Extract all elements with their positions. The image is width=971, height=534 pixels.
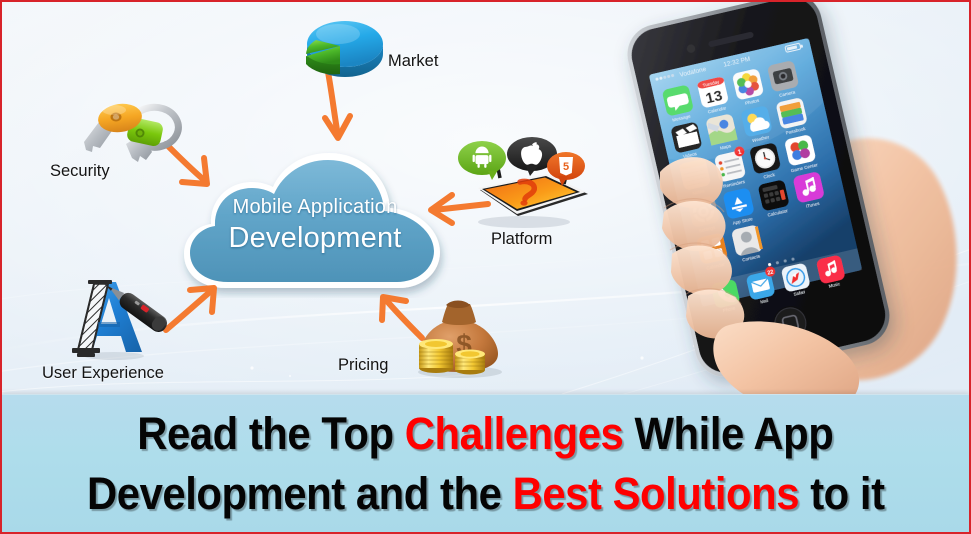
money-bag-icon: $ (402, 296, 514, 380)
headline-line2-highlight: Best Solutions (512, 468, 798, 519)
label-pricing: Pricing (338, 356, 388, 375)
keys-icon (80, 90, 192, 170)
headline-line1-highlight: Challenges (405, 408, 624, 459)
phone-in-hand: Vodafone 12:32 PM Message Tuesday (602, 0, 971, 416)
pie-chart-icon (300, 16, 396, 82)
banner-graphic: Mobile Application Development (0, 0, 971, 534)
design-pen-icon (64, 276, 174, 362)
label-platform: Platform (491, 230, 552, 249)
headline-line2-part1: Development and the (87, 468, 513, 519)
headline-line1-part3: While App (624, 408, 834, 459)
headline-line2-part3: to it (799, 468, 885, 519)
label-market: Market (388, 52, 438, 71)
headline-banner: Read the Top Challenges While App Develo… (2, 394, 969, 532)
label-user-experience: User Experience (42, 364, 164, 383)
headline-line1-part1: Read the Top (137, 408, 405, 459)
headline-line-2: Development and the Best Solutions to it (87, 464, 885, 524)
label-security: Security (50, 162, 110, 181)
headline-line-1: Read the Top Challenges While App (137, 404, 833, 464)
svg-text:5: 5 (563, 161, 569, 173)
platform-icon: 5 (448, 138, 594, 232)
cloud-line-2: Development (178, 222, 452, 255)
cloud-line-1: Mobile Application (178, 196, 452, 219)
